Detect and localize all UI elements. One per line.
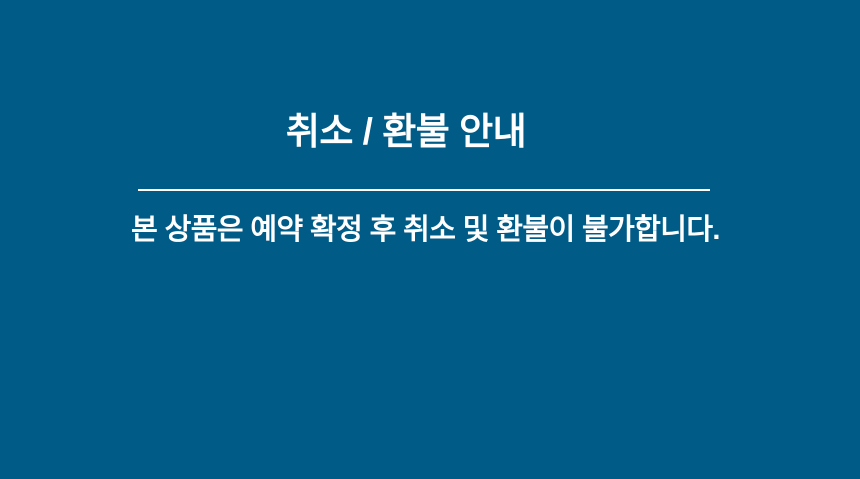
notice-body-text: 본 상품은 예약 확정 후 취소 및 환불이 불가합니다. bbox=[0, 209, 851, 251]
title-divider bbox=[138, 189, 710, 192]
divider-line bbox=[138, 189, 710, 191]
cancellation-refund-notice-banner: 취소 / 환불 안내 본 상품은 예약 확정 후 취소 및 환불이 불가합니다. bbox=[0, 0, 860, 479]
page-title: 취소 / 환불 안내 bbox=[0, 108, 812, 156]
